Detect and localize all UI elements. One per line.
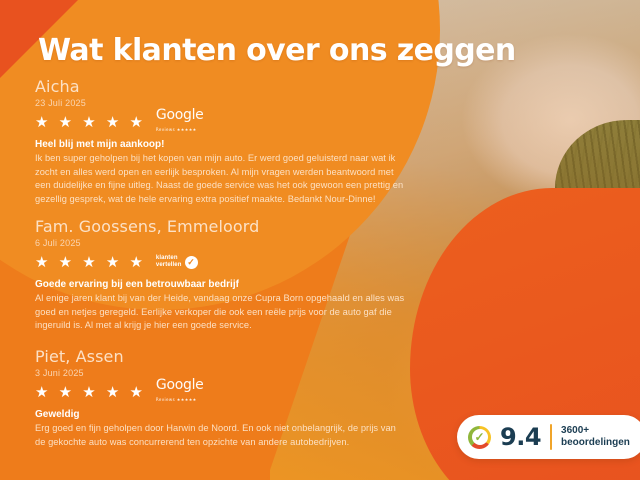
review-title: Goede ervaring bij een betrouwbaar bedri… <box>35 279 405 290</box>
google-reviews-logo: Google Reviews ★★★★★ <box>156 108 204 137</box>
google-reviews-logo: Google Reviews ★★★★★ <box>156 378 204 407</box>
google-reviews-sublabel: Reviews ★★★★★ <box>156 393 204 407</box>
review-count-label: beoordelingen <box>561 437 630 449</box>
review-body: Al enige jaren klant bij van der Heide, … <box>35 292 405 333</box>
review-title: Heel blij met mijn aankoop! <box>35 139 405 150</box>
klantenvertellen-seal-icon: ✓ <box>468 426 491 449</box>
star-rating: ★ ★ ★ ★ ★ <box>35 255 146 270</box>
google-logo-text: Google <box>156 377 204 393</box>
review-body: Ik ben super geholpen bij het kopen van … <box>35 152 405 206</box>
score-value: 9.4 <box>500 425 541 449</box>
review-date: 6 Juli 2025 <box>35 238 405 248</box>
review-banner: VDH Wat klanten over ons zeggen Aicha 23… <box>0 0 640 480</box>
check-icon: ✓ <box>472 429 488 445</box>
review-card: Fam. Goossens, Emmeloord 6 Juli 2025 ★ ★… <box>35 218 405 333</box>
reviewer-name: Piet, Assen <box>35 348 405 366</box>
review-date: 3 Juni 2025 <box>35 368 405 378</box>
google-reviews-sublabel: Reviews ★★★★★ <box>156 123 204 137</box>
review-card: Piet, Assen 3 Juni 2025 ★ ★ ★ ★ ★ Google… <box>35 348 405 449</box>
star-rating: ★ ★ ★ ★ ★ <box>35 115 146 130</box>
review-title: Geweldig <box>35 409 405 420</box>
check-circle-icon: ✓ <box>185 256 198 269</box>
klantenvertellen-line2: vertellen <box>156 262 182 269</box>
review-count-block: 3600+ beoordelingen <box>561 425 630 449</box>
reviewer-name: Fam. Goossens, Emmeloord <box>35 218 405 236</box>
page-title: Wat klanten over ons zeggen <box>38 33 516 68</box>
review-count: 3600+ <box>561 425 630 437</box>
review-card: Aicha 23 Juli 2025 ★ ★ ★ ★ ★ Google Revi… <box>35 78 405 206</box>
badge-divider <box>550 424 552 450</box>
score-badge: ✓ 9.4 3600+ beoordelingen <box>457 415 640 459</box>
google-logo-text: Google <box>156 107 204 123</box>
klantenvertellen-logo: klanten vertellen ✓ <box>156 255 198 269</box>
review-date: 23 Juli 2025 <box>35 98 405 108</box>
review-body: Erg goed en fijn geholpen door Harwin de… <box>35 422 405 449</box>
klantenvertellen-line1: klanten <box>156 255 182 262</box>
reviewer-name: Aicha <box>35 78 405 96</box>
star-rating: ★ ★ ★ ★ ★ <box>35 385 146 400</box>
klantenvertellen-wordmark: klanten vertellen <box>156 255 182 269</box>
